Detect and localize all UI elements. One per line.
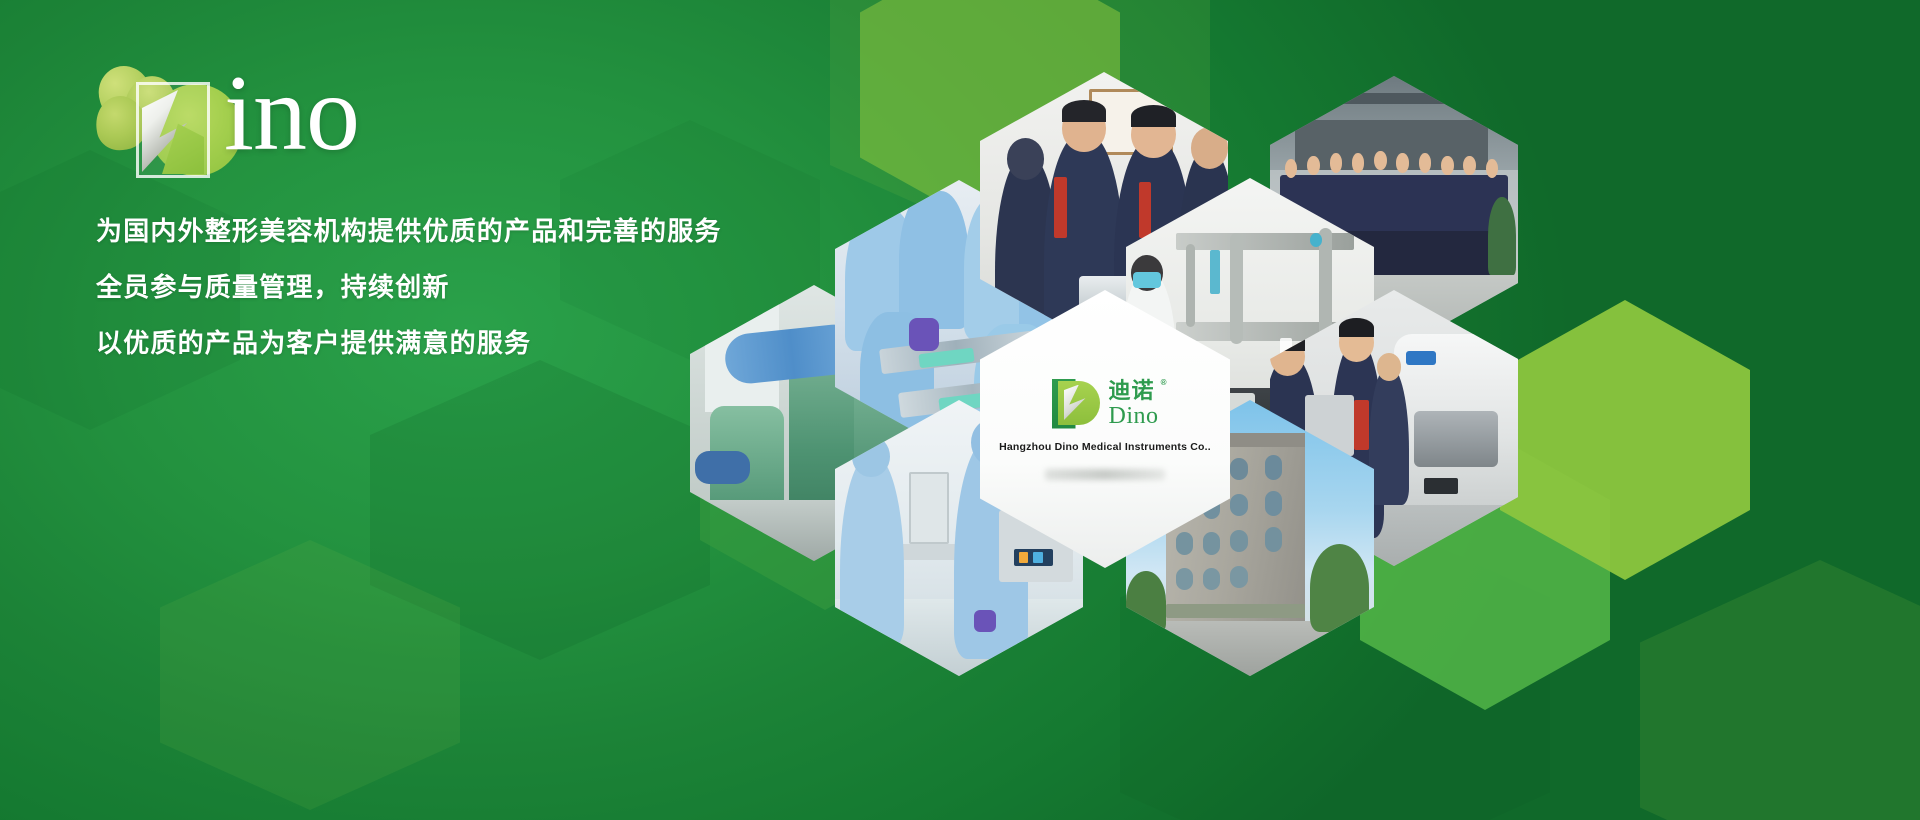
hero-banner: ino 为国内外整形美容机构提供优质的产品和完善的服务 全员参与质量管理，持续创… xyxy=(0,0,1920,820)
photo-honeycomb: 迪诺® Dino Hangzhou Dino Medical Instrumen… xyxy=(660,0,1920,820)
dino-d-mark-icon: 迪诺® Dino xyxy=(1052,379,1159,429)
wordmark-text: ino xyxy=(224,60,359,168)
blurred-text-line xyxy=(1045,469,1165,480)
dino-logo: ino xyxy=(96,62,426,170)
badge-name-en: Dino xyxy=(1109,404,1159,428)
bg-hexagon xyxy=(160,540,460,810)
badge-name-cn: 迪诺® xyxy=(1109,380,1159,402)
letter-d-icon xyxy=(136,82,236,178)
center-logo-hexagon[interactable]: 迪诺® Dino Hangzhou Dino Medical Instrumen… xyxy=(980,290,1230,568)
badge-company-name: Hangzhou Dino Medical Instruments Co.. xyxy=(999,441,1211,453)
registered-mark: ® xyxy=(1161,379,1168,387)
accent-hexagon xyxy=(1500,300,1750,580)
